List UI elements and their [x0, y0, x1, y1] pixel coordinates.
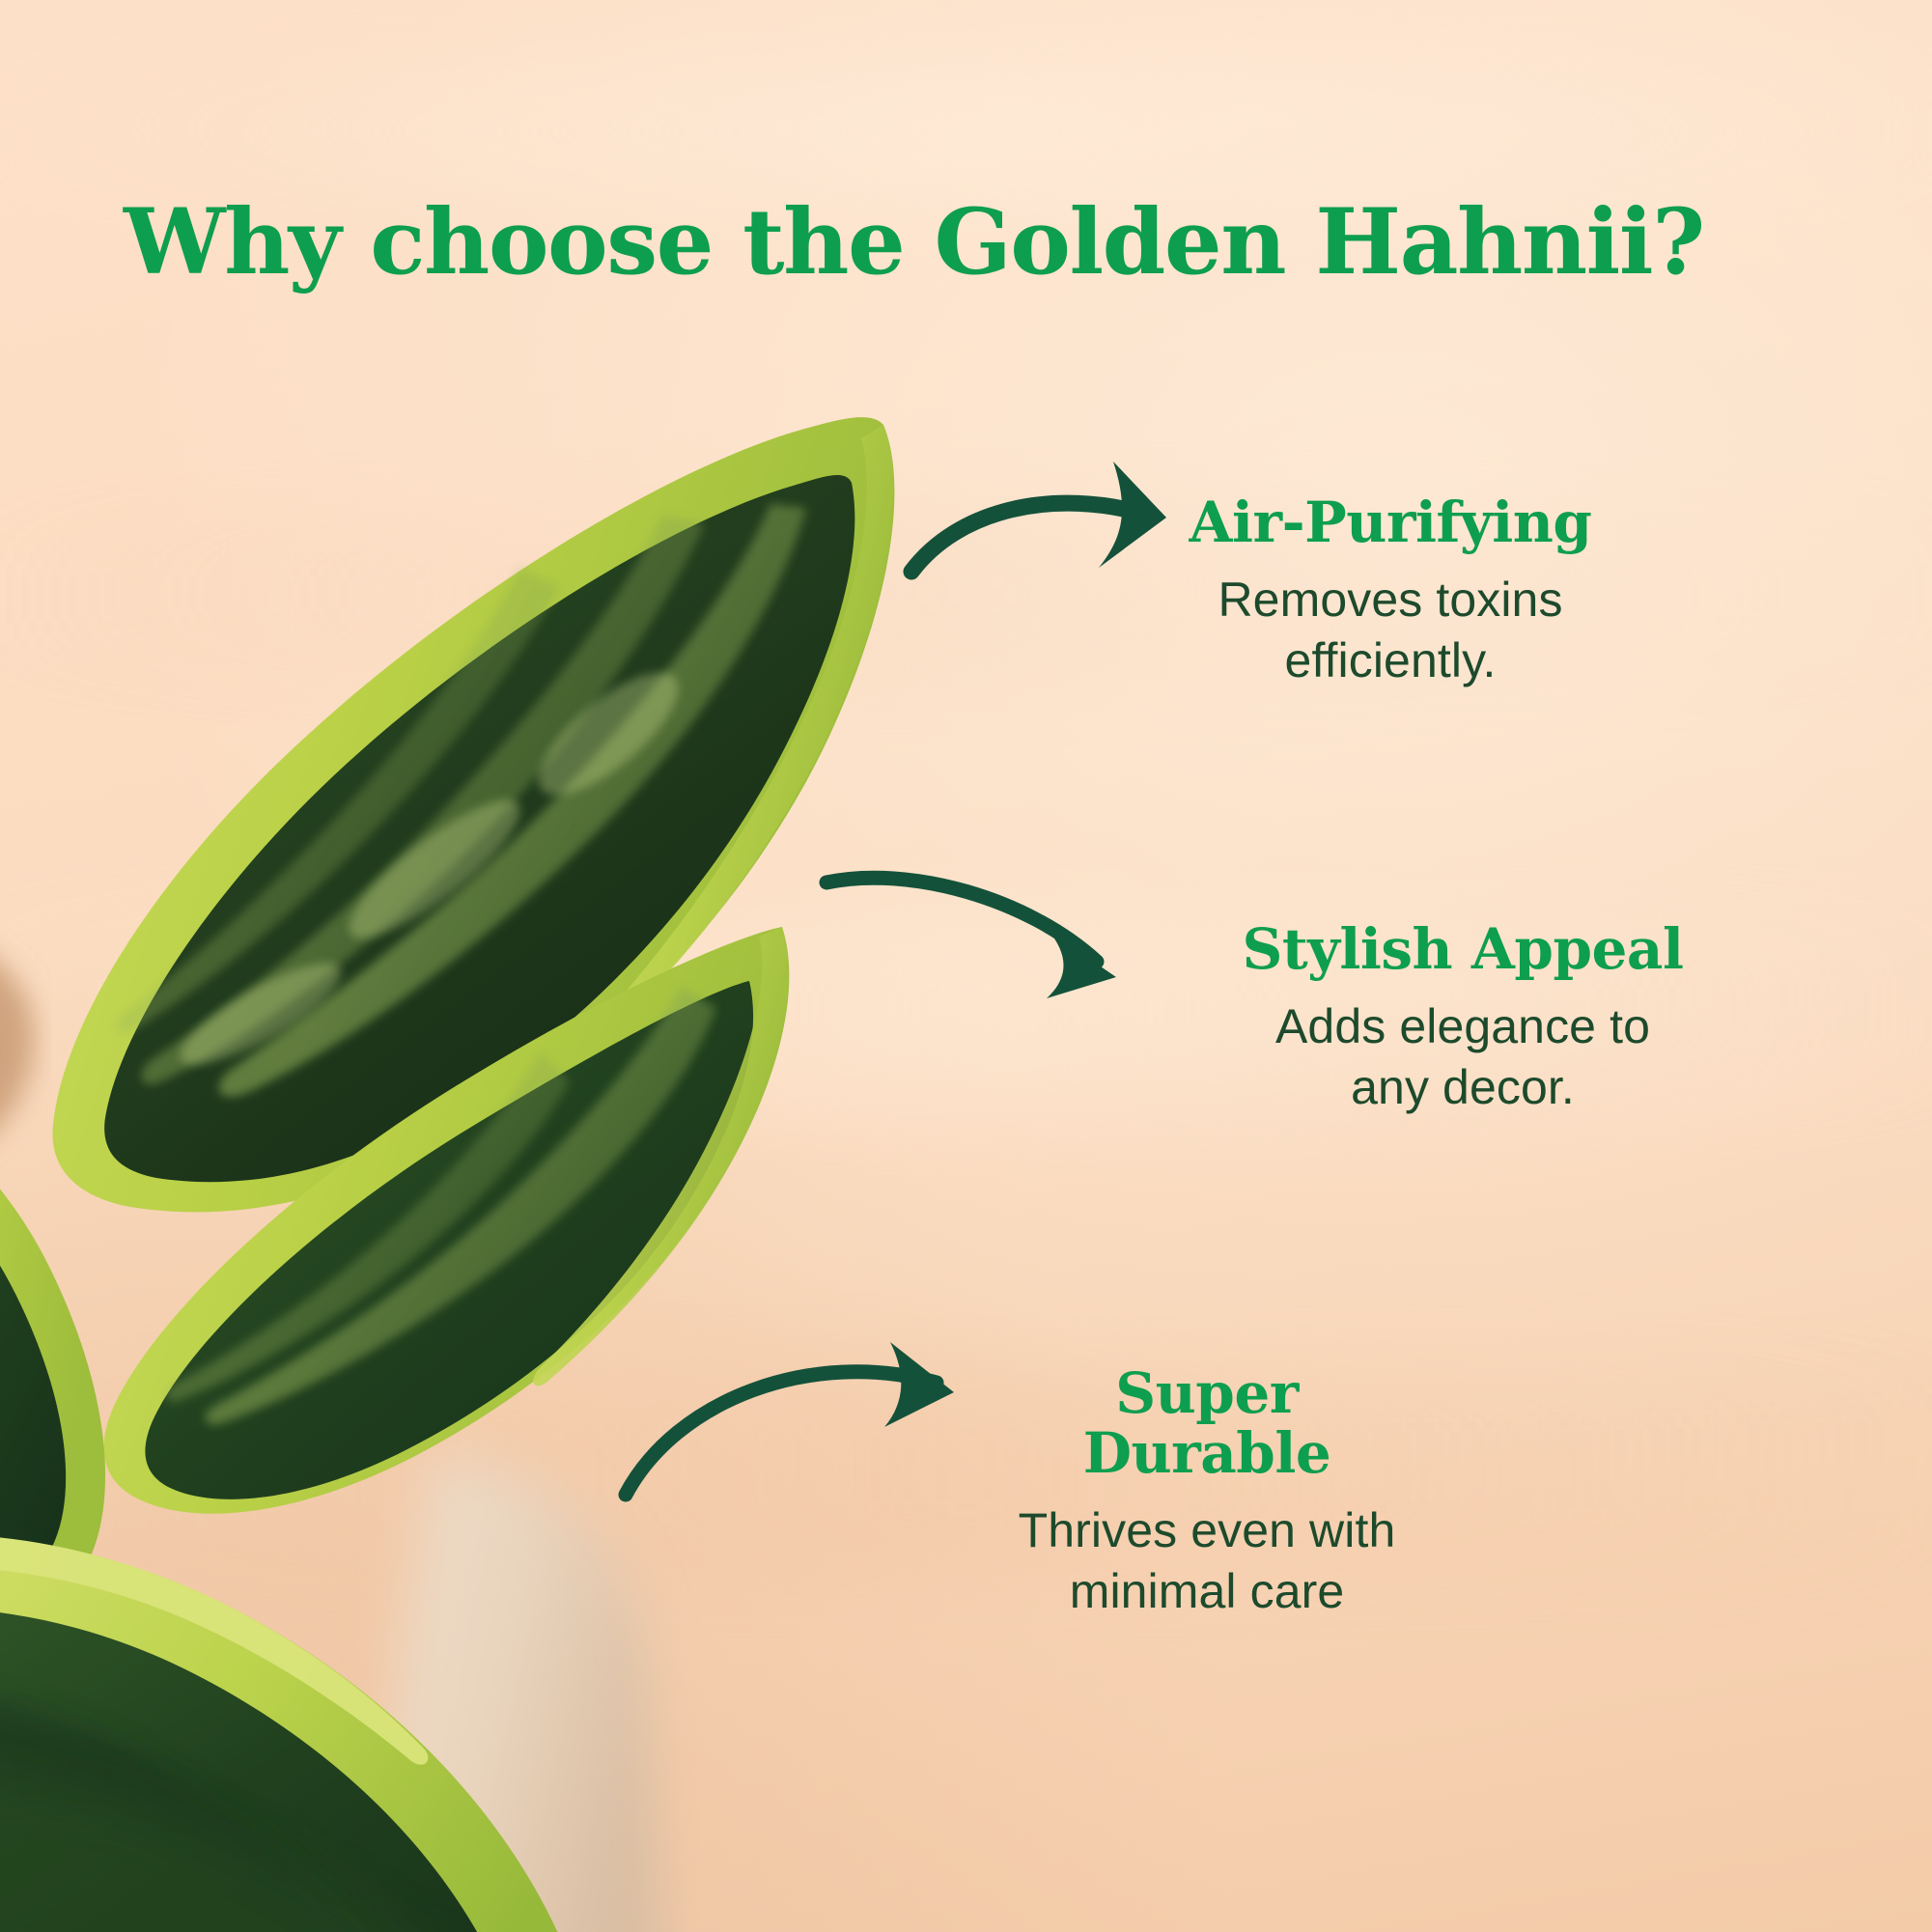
feature-description: Removes toxins efficiently.	[1163, 570, 1617, 691]
feature-description: Adds elegance to any decor.	[1221, 996, 1704, 1118]
leaf-secondary	[104, 927, 790, 1514]
feature-title: Air-Purifying	[1163, 492, 1617, 552]
depth-of-field-blur	[0, 1771, 564, 1932]
feature-title: Stylish Appeal	[1221, 919, 1704, 979]
curved-arrow-icon	[821, 869, 1168, 1014]
feature-title: Super Durable	[966, 1363, 1448, 1483]
leaf-primary	[52, 417, 894, 1212]
page-title: Why choose the Golden Hahnii?	[124, 189, 1704, 295]
feature-callout-air-purifying: Air-Purifying Removes toxins efficiently…	[1163, 492, 1617, 691]
leaf-stripes	[165, 987, 716, 1424]
background-band	[0, 58, 1932, 203]
leaf-cluster-left	[0, 1072, 105, 1615]
leaf-foreground-curl	[0, 1534, 586, 1932]
pot-body	[348, 1458, 666, 1932]
background-band	[0, 502, 1932, 686]
snake-plant-illustration	[0, 415, 1072, 1932]
leaf-stripes	[116, 504, 806, 1097]
leaf-mottle	[169, 653, 696, 1081]
pot-shape	[0, 930, 35, 1169]
poster-canvas: Why choose the Golden Hahnii?	[0, 0, 1932, 1932]
feature-description: Thrives even with minimal care	[966, 1500, 1448, 1622]
feature-callout-super-durable: Super Durable Thrives even with minimal …	[966, 1363, 1448, 1622]
feature-callout-stylish-appeal: Stylish Appeal Adds elegance to any deco…	[1221, 919, 1704, 1118]
curved-arrow-icon	[618, 1332, 1023, 1506]
